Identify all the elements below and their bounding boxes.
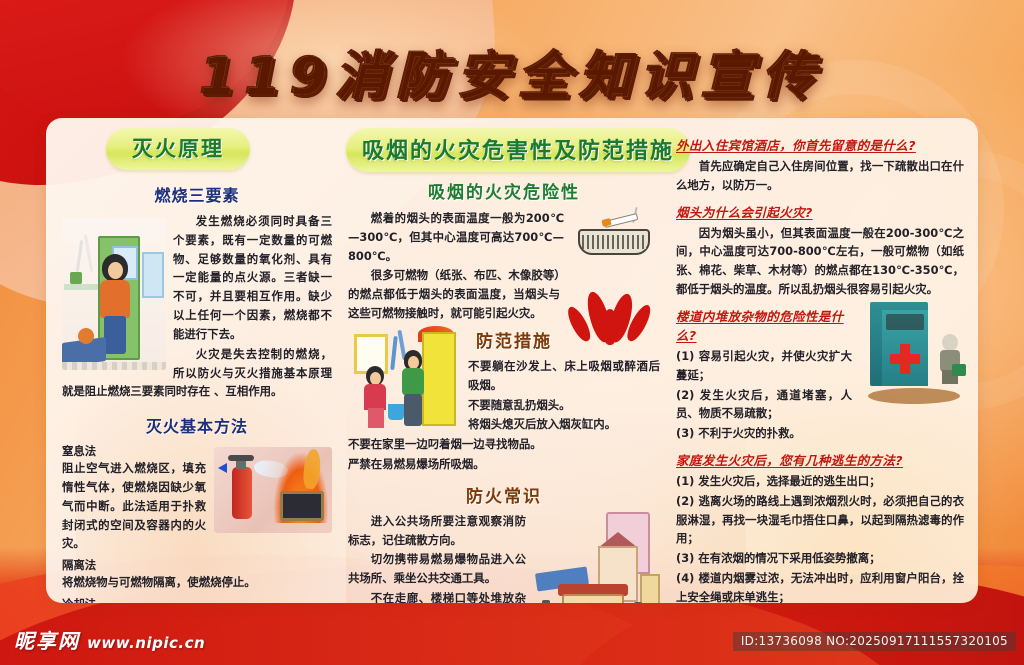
answer-hotel-checkin: 首先应确定自己入住房间位置，找一下疏散出口在什么地方，以防万一。: [676, 157, 964, 195]
answer-cigarette-butt: 因为烟头虽小，但其表面温度一般在200-300℃之间，中心温度可达700-800…: [676, 224, 964, 299]
illustration-fire-knowledge-book: [860, 300, 964, 404]
poster-title: 119消防安全知识宣传: [190, 34, 834, 109]
heading-fire-prevention-knowledge: 防火常识: [348, 482, 660, 507]
measure-item-5: 严禁在易燃易爆场所吸烟。: [348, 455, 660, 474]
answer-corridor-clutter-3: (3) 不利于火灾的扑救。: [676, 424, 964, 443]
poster-canvas: 119消防安全知识宣传 灭火原理 燃烧三要素 发生燃烧必须同时具备三个要素，既有…: [0, 0, 1024, 665]
question-hotel-checkin: 外出入住宾馆酒店，你首先留意的是什么?: [676, 135, 964, 154]
heading-pill-extinguishing-principle: 灭火原理: [106, 128, 250, 170]
illustration-extinguisher-vs-fire: [214, 447, 332, 533]
answer-home-escape-4: (4) 楼道内烟雾过浓，无法冲出时，应利用窗户阳台，拴上安全绳或床单逃生；: [676, 569, 964, 603]
term-cooling-method: 冷却法: [62, 596, 332, 603]
question-cigarette-butt: 烟头为什么会引起火灾?: [676, 202, 964, 221]
footer: 昵享网 www.nipic.cn ID:13736098 NO:20250917…: [0, 615, 1024, 665]
illustration-cigarette-ashtray: [572, 209, 656, 283]
poster-title-area: 119消防安全知识宣传: [0, 34, 1024, 109]
illustration-red-flame: [568, 287, 654, 349]
answer-home-escape-1: (1) 发生火灾后，选择最近的逃生出口；: [676, 472, 964, 491]
illustration-kitchen-fire: [62, 218, 166, 370]
illustration-town-extinguishers: [534, 512, 660, 603]
site-brand[interactable]: 昵享网 www.nipic.cn: [14, 625, 205, 654]
heading-three-elements: 燃烧三要素: [62, 182, 332, 206]
column-middle: 吸烟的火灾危害性及防范措施 吸烟的火灾危险性 燃着的烟头的表面温度一般为200℃…: [342, 118, 668, 603]
asset-id-label: ID:13736098 NO:20250917111557320105: [733, 632, 1016, 651]
columns-wrapper: 灭火原理 燃烧三要素 发生燃烧必须同时具备三个要素，既有一定数量的可燃物、足够数…: [46, 118, 978, 603]
heading-smoking-fire-risk: 吸烟的火灾危险性: [348, 178, 660, 203]
answer-home-escape-3: (3) 在有浓烟的情况下采用低姿势撤离；: [676, 549, 964, 568]
column-left: 灭火原理 燃烧三要素 发生燃烧必须同时具备三个要素，既有一定数量的可燃物、足够数…: [46, 118, 342, 603]
measure-item-4: 不要在家里一边叼着烟一边寻找物品。: [348, 435, 660, 454]
brand-url: www.nipic.cn: [87, 634, 205, 652]
illustration-fire-escape-couple: [348, 326, 460, 430]
brand-name-cn: 昵享网: [14, 625, 80, 654]
term-isolation-method: 隔离法: [62, 557, 332, 573]
heading-basic-methods: 灭火基本方法: [62, 413, 332, 437]
heading-pill-smoking-hazards: 吸烟的火灾危害性及防范措施: [346, 128, 690, 172]
column-right: 外出入住宾馆酒店，你首先留意的是什么? 首先应确定自己入住房间位置，找一下疏散出…: [668, 118, 978, 603]
content-panel: 灭火原理 燃烧三要素 发生燃烧必须同时具备三个要素，既有一定数量的可燃物、足够数…: [46, 118, 978, 603]
question-home-escape: 家庭发生火灾后，您有几种逃生的方法?: [676, 450, 964, 469]
answer-home-escape-2: (2) 逃离火场的路线上遇到浓烟烈火时，必须把自己的衣服淋湿，再找一块湿毛巾捂住…: [676, 492, 964, 548]
text-isolation-method: 将燃烧物与可燃物隔离，使燃烧停止。: [62, 573, 332, 592]
